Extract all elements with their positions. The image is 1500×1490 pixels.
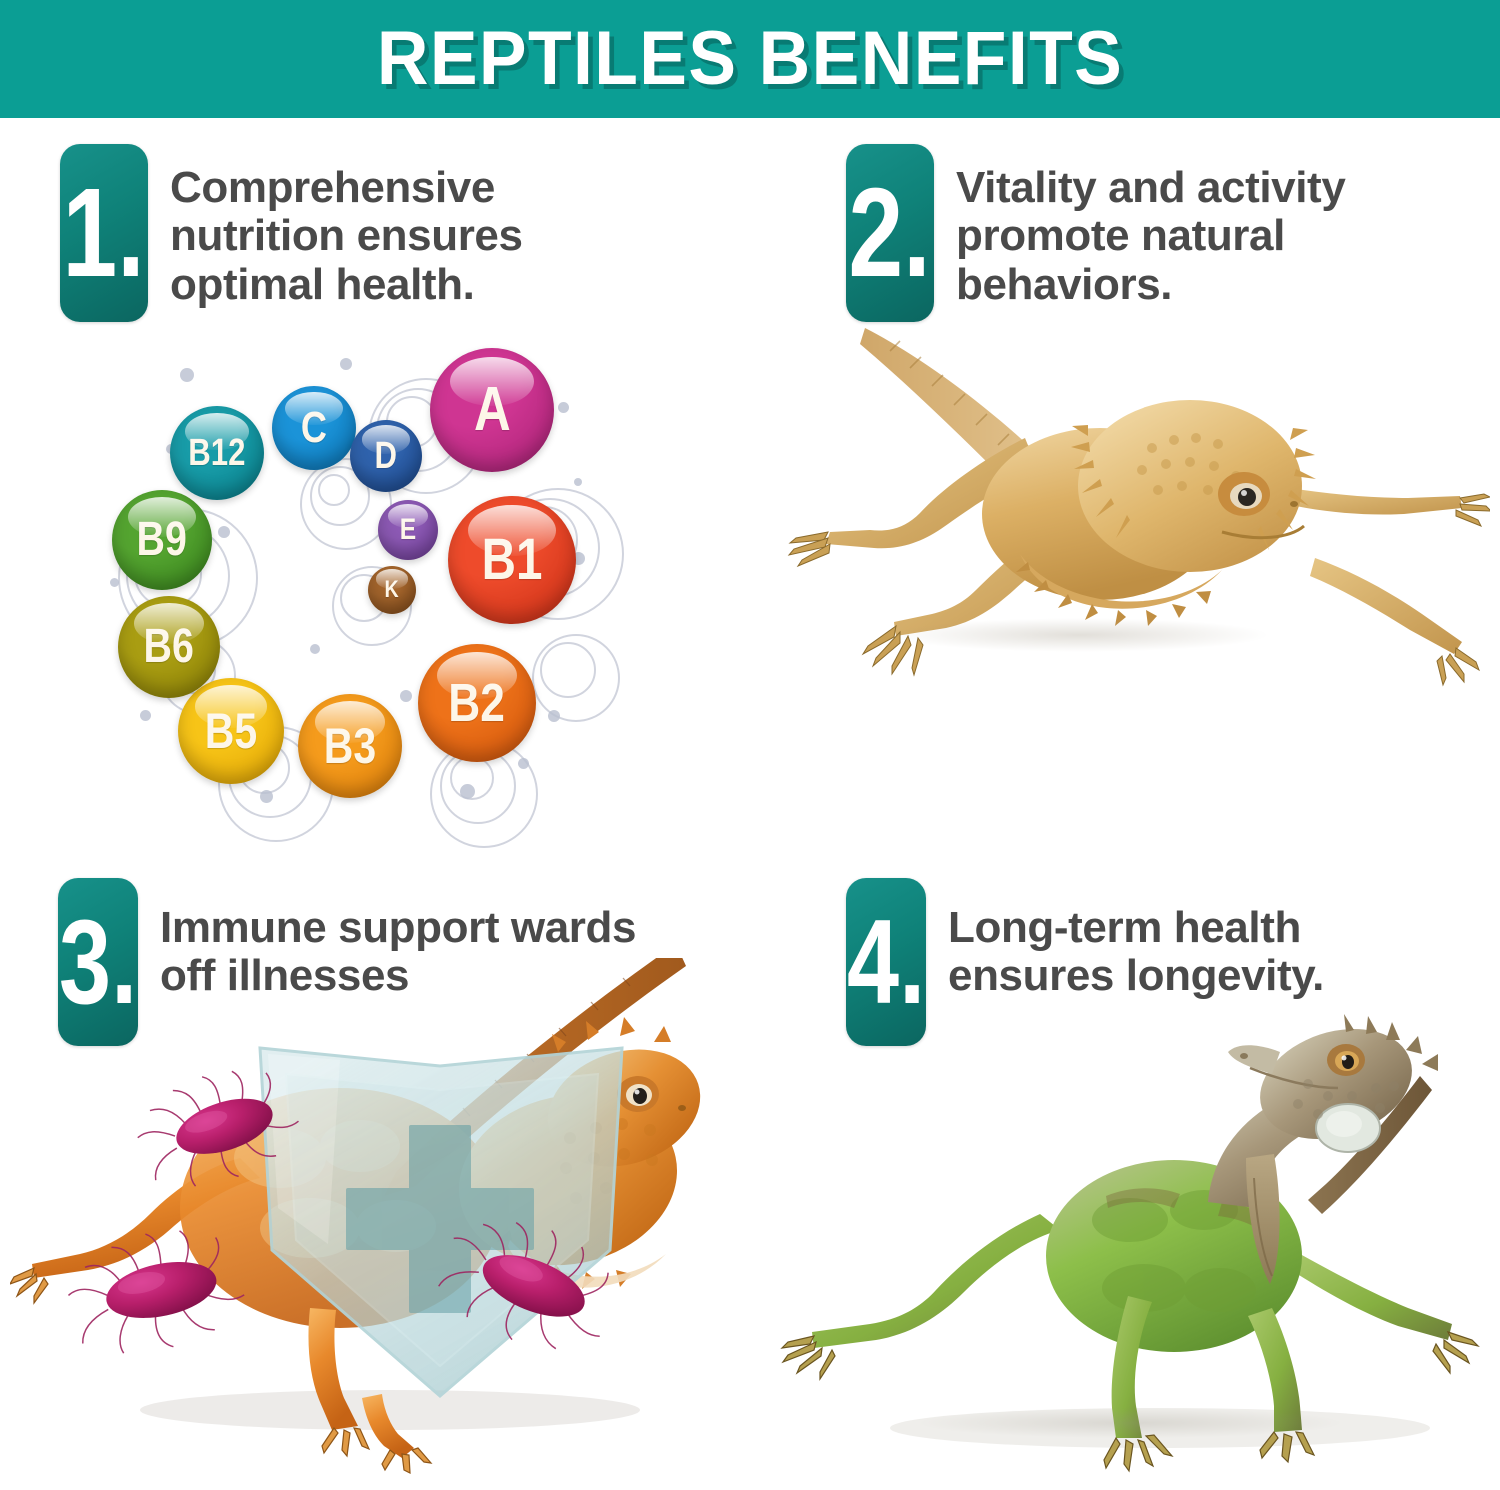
decorative-dot	[340, 358, 352, 370]
vitamin-label: E	[400, 515, 416, 545]
vitamin-bubble-c: C	[272, 386, 356, 470]
vitamin-label: B1	[482, 531, 543, 589]
vitamin-bubble-b9: B9	[112, 490, 212, 590]
vitamin-wheel-illustration: AB1B2B3B5B6B9B12CDEK	[100, 338, 600, 828]
infographic-page: REPTILES BENEFITS 1. Comprehensive nutri…	[0, 0, 1500, 1490]
benefit-text-4: Long-term health ensures longevity.	[948, 878, 1324, 1001]
vitamin-label: B9	[137, 516, 187, 564]
green-iguana-drawing	[760, 988, 1490, 1478]
decorative-dot	[218, 526, 230, 538]
benefit-heading-2: 2. Vitality and activity promote natural…	[846, 144, 1345, 322]
decorative-dot	[310, 644, 320, 654]
decorative-dot	[110, 578, 119, 587]
page-title: REPTILES BENEFITS	[377, 21, 1123, 97]
vitamin-bubble-d: D	[350, 420, 422, 492]
benefit-panel-4: 4. Long-term health ensures longevity.	[750, 858, 1500, 1490]
decorative-ring	[318, 474, 350, 506]
header-banner: REPTILES BENEFITS	[0, 0, 1500, 118]
benefit-number-2: 2.	[849, 170, 931, 296]
vitamin-label: B2	[449, 676, 506, 730]
vitamin-bubble-b6: B6	[118, 596, 220, 698]
decorative-dot	[518, 758, 529, 769]
vitamin-bubble-e: E	[378, 500, 438, 560]
vitamin-bubble-b2: B2	[418, 644, 536, 762]
bearded-dragon-drawing	[770, 318, 1490, 718]
benefit-panel-1: 1. Comprehensive nutrition ensures optim…	[0, 118, 750, 858]
vitamin-label: K	[385, 578, 399, 602]
decorative-dot	[400, 690, 412, 702]
benefit-panel-3: 3. Immune support wards off illnesses	[0, 858, 750, 1490]
dragon-ground-shadow	[890, 618, 1270, 652]
vitamin-label: B12	[188, 434, 245, 472]
benefit-number-1: 1.	[63, 170, 145, 296]
benefit-number-badge-1: 1.	[60, 144, 148, 322]
decorative-dot	[180, 368, 194, 382]
vitamin-label: A	[474, 379, 511, 441]
vitamin-bubble-b1: B1	[448, 496, 576, 624]
benefit-text-2: Vitality and activity promote natural be…	[956, 144, 1345, 309]
vitamin-label: C	[301, 406, 327, 450]
vitamin-label: B3	[324, 721, 376, 771]
vitamin-bubble-a: A	[430, 348, 554, 472]
vitamin-bubble-b12: B12	[170, 406, 264, 500]
immune-shield-photo	[10, 958, 740, 1478]
immune-shield-drawing	[10, 958, 740, 1478]
vitamin-label: D	[375, 437, 398, 475]
decorative-dot	[260, 790, 273, 803]
vitamin-bubble-k: K	[368, 566, 416, 614]
bearded-dragon-photo	[770, 318, 1490, 718]
decorative-dot	[548, 710, 560, 722]
benefit-heading-1: 1. Comprehensive nutrition ensures optim…	[60, 144, 523, 322]
vitamin-label: B5	[205, 706, 257, 756]
benefit-text-1: Comprehensive nutrition ensures optimal …	[170, 144, 523, 309]
decorative-dot	[140, 710, 151, 721]
decorative-dot	[574, 478, 582, 486]
iguana-ground-shadow	[920, 1408, 1340, 1438]
benefit-panel-2: 2. Vitality and activity promote natural…	[750, 118, 1500, 858]
decorative-ring	[540, 642, 596, 698]
decorative-dot	[558, 402, 569, 413]
benefit-number-badge-2: 2.	[846, 144, 934, 322]
vitamin-label: B6	[144, 623, 194, 671]
decorative-dot	[460, 784, 475, 799]
vitamin-bubble-b3: B3	[298, 694, 402, 798]
green-iguana-photo	[760, 988, 1490, 1478]
vitamin-bubble-b5: B5	[178, 678, 284, 784]
